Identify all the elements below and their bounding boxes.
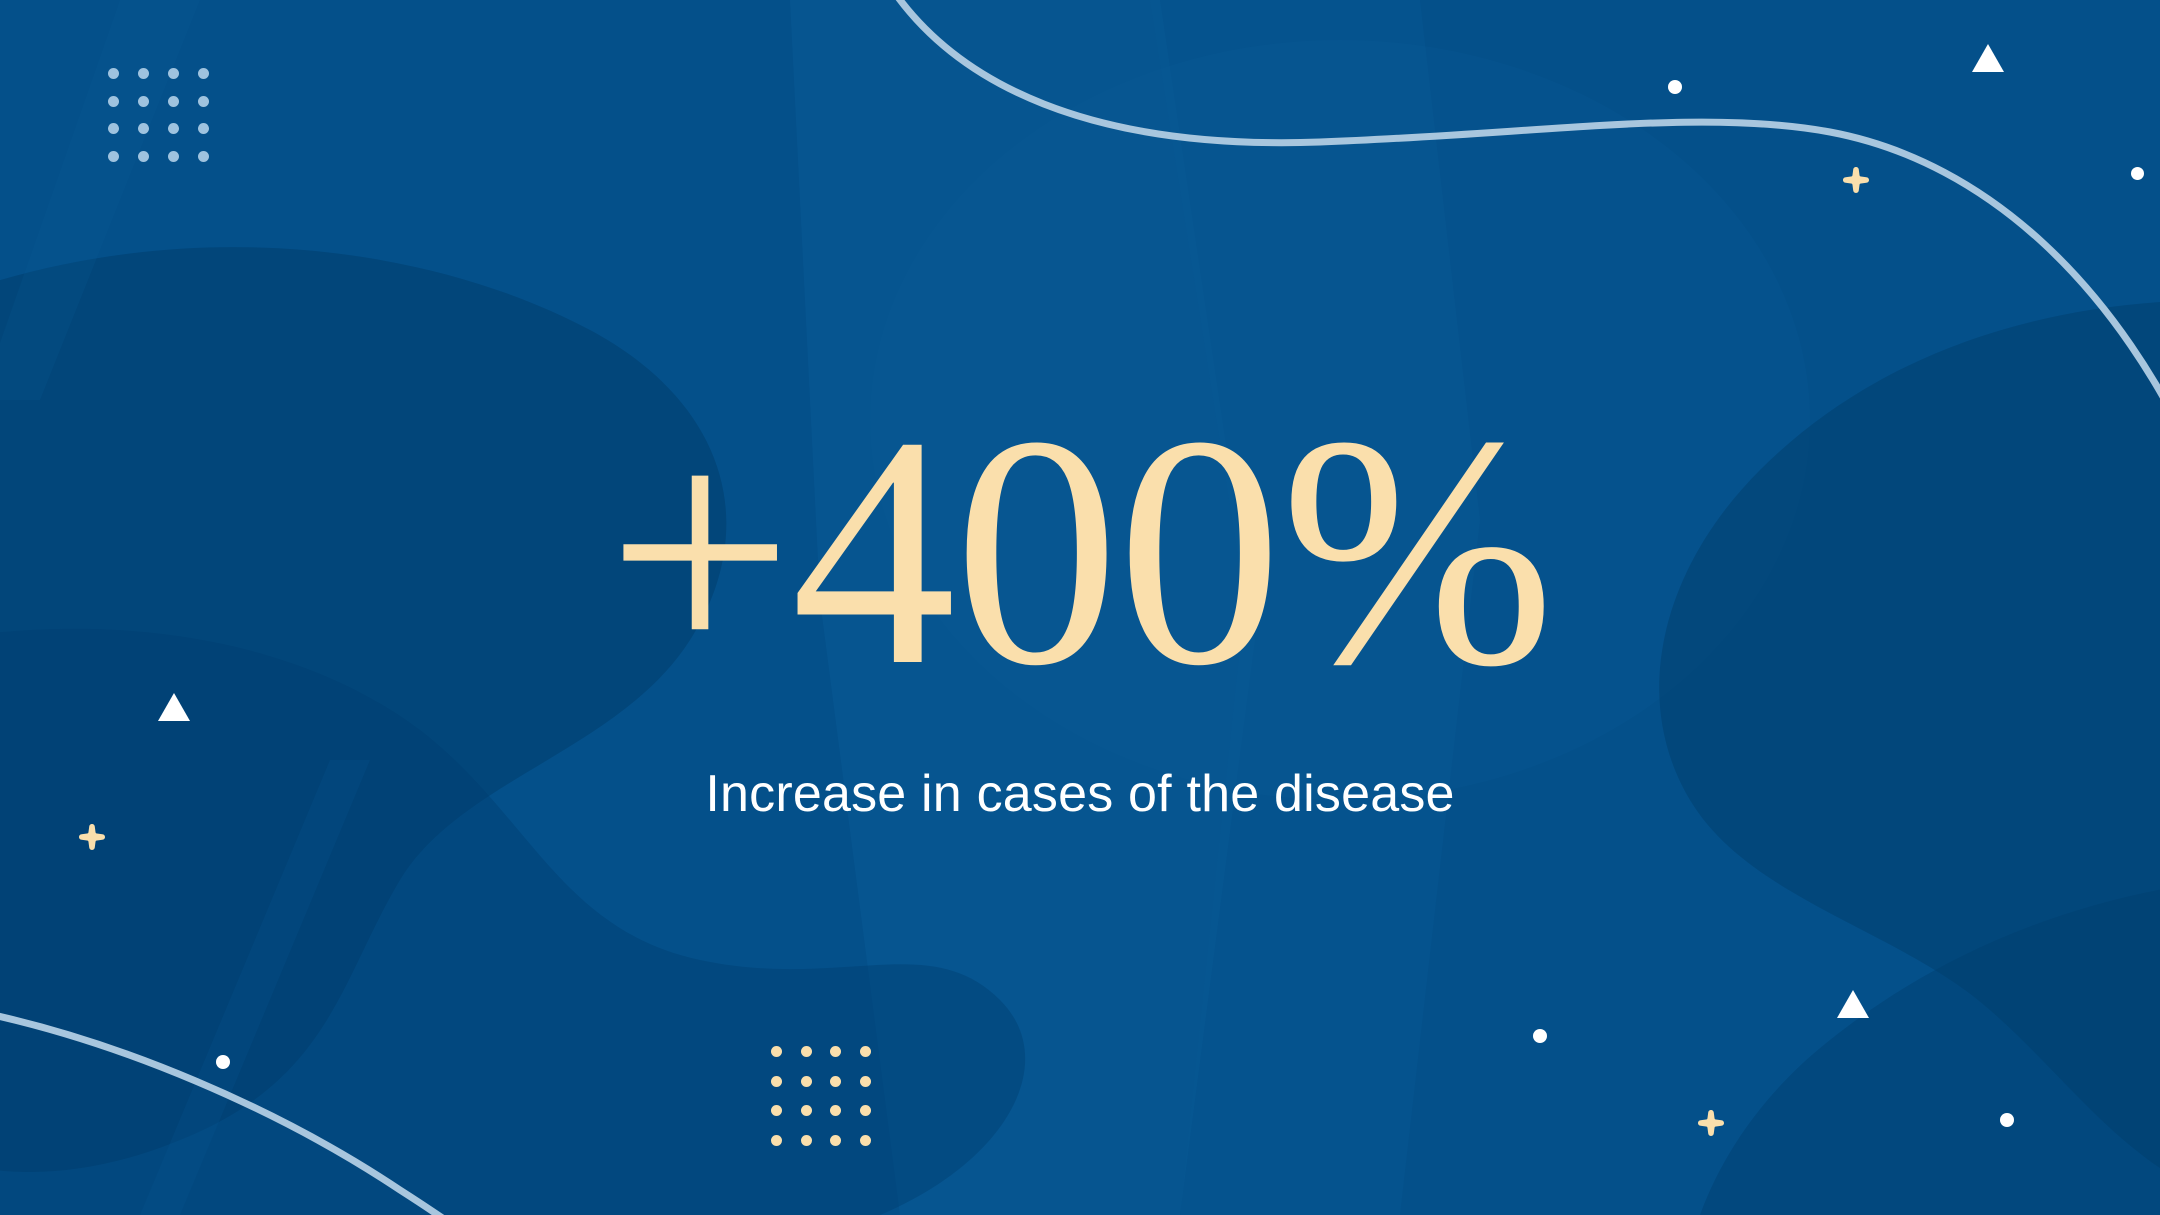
stat-value: +400% (607, 395, 1553, 709)
stat-content: +400% Increase in cases of the disease (0, 0, 2160, 1215)
stat-caption: Increase in cases of the disease (705, 764, 1454, 824)
statistic-slide: +400% Increase in cases of the disease (0, 0, 2160, 1215)
